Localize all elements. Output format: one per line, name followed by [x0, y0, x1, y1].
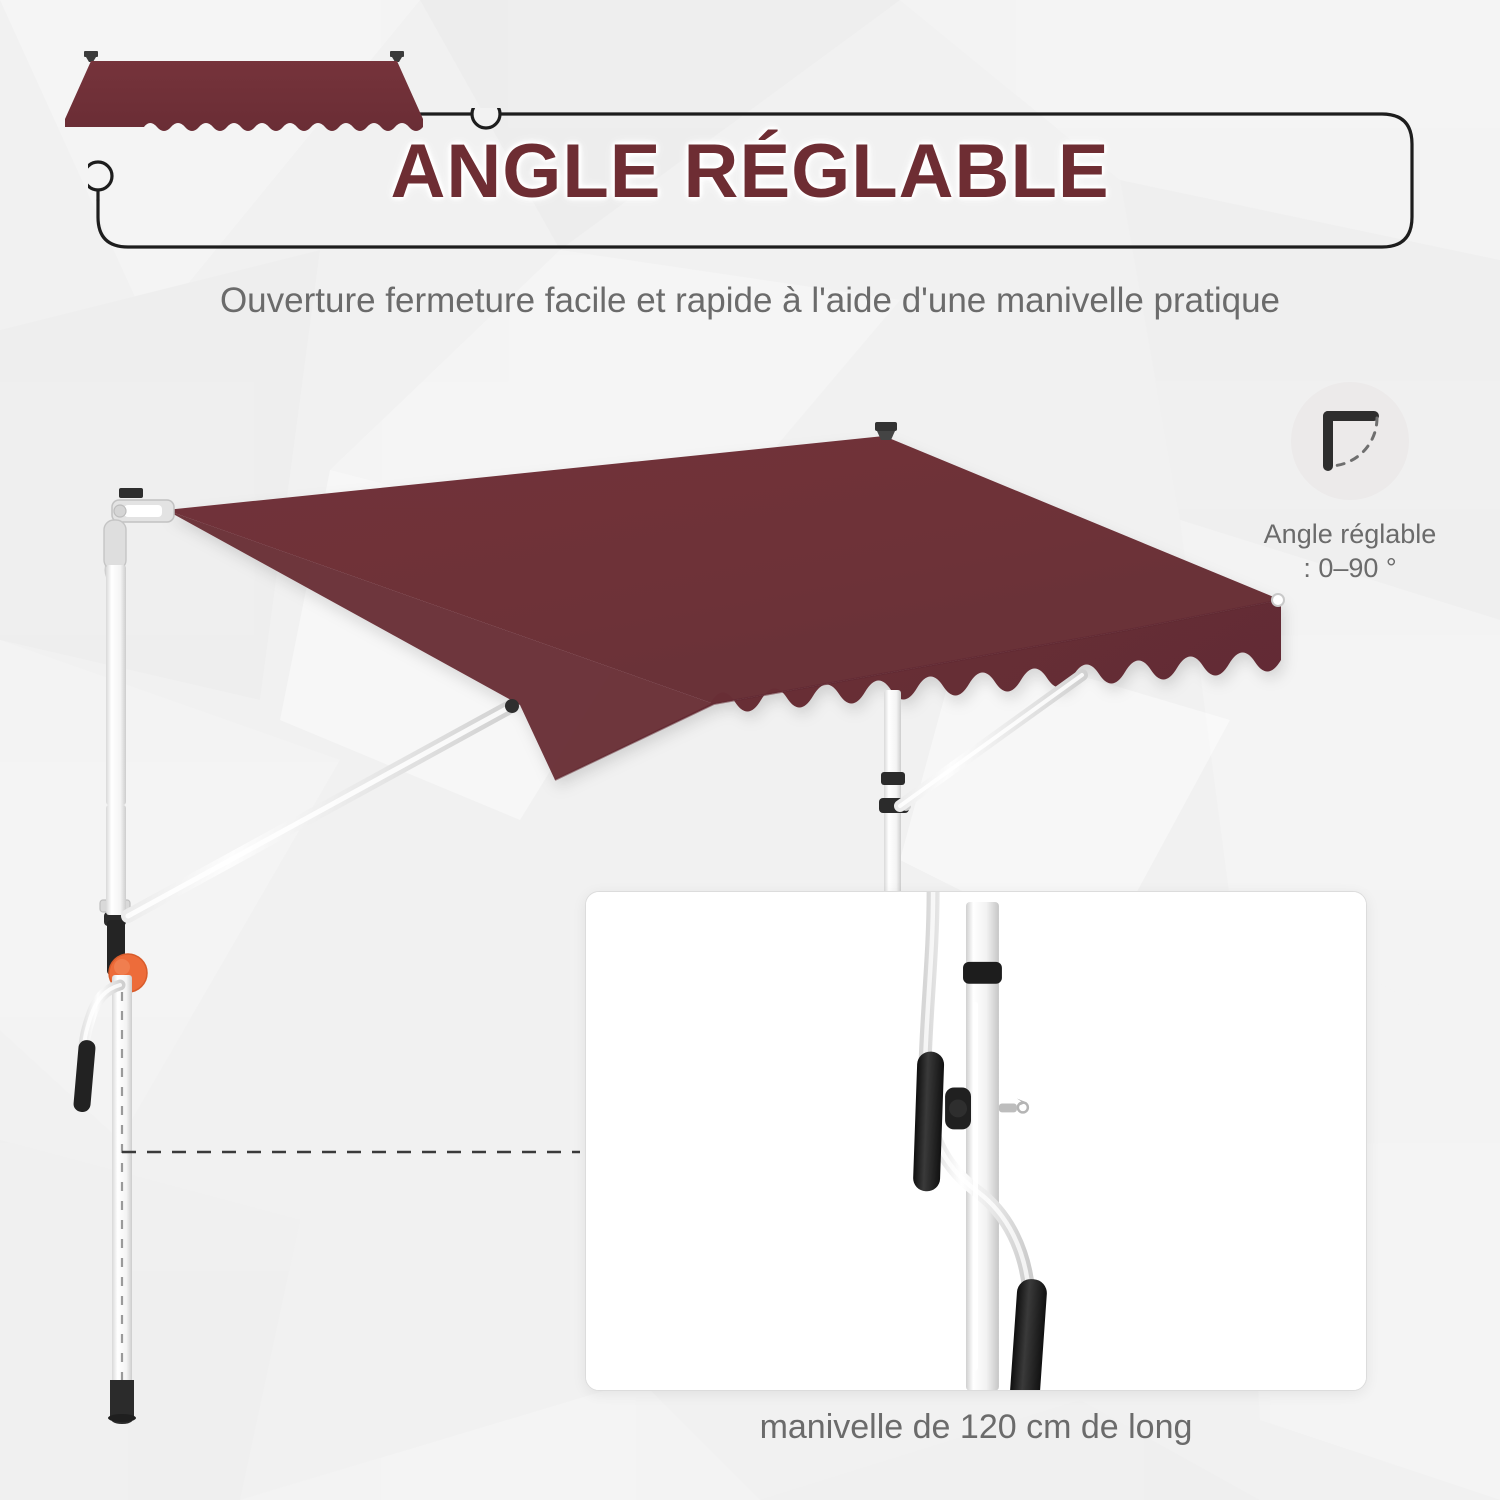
- crank-grip: [73, 1039, 96, 1112]
- awning-icon-brackets: [84, 51, 404, 62]
- page-title: ANGLE RÉGLABLE: [100, 128, 1400, 215]
- angle-feature-label: Angle réglable : 0–90 °: [1238, 518, 1462, 586]
- pole-top-cap: [963, 962, 1002, 984]
- angle-feature-badge: Angle réglable : 0–90 °: [1238, 382, 1462, 586]
- page-subtitle: Ouverture fermeture facile et rapide à l…: [0, 281, 1500, 321]
- left-pole-head-bracket: [112, 488, 174, 522]
- left-pole-assembly: [100, 488, 174, 1424]
- inset-caption: manivelle de 120 cm de long: [585, 1408, 1367, 1447]
- infographic-page: ANGLE RÉGLABLE Ouverture fermeture facil…: [0, 0, 1500, 1500]
- canopy-right-tip-fitting: [1272, 594, 1284, 606]
- left-arm-tip-fitting: [505, 699, 519, 713]
- left-pole-upper-tube: [106, 565, 126, 805]
- locking-knob: [945, 1087, 971, 1129]
- crank-detail-panel: [585, 891, 1367, 1391]
- awning-icon-canopy: [65, 61, 423, 131]
- adjustable-angle-icon: [1291, 382, 1409, 500]
- upper-grip: [913, 1051, 945, 1191]
- crank-detail-illustration: [586, 892, 1366, 1391]
- canopy-group: [166, 436, 1281, 780]
- frame-connector-top-circle: [472, 108, 500, 128]
- left-support-arm: [128, 699, 519, 916]
- left-pole-collar: [104, 520, 126, 570]
- left-pole-lower-tube: [112, 975, 132, 1415]
